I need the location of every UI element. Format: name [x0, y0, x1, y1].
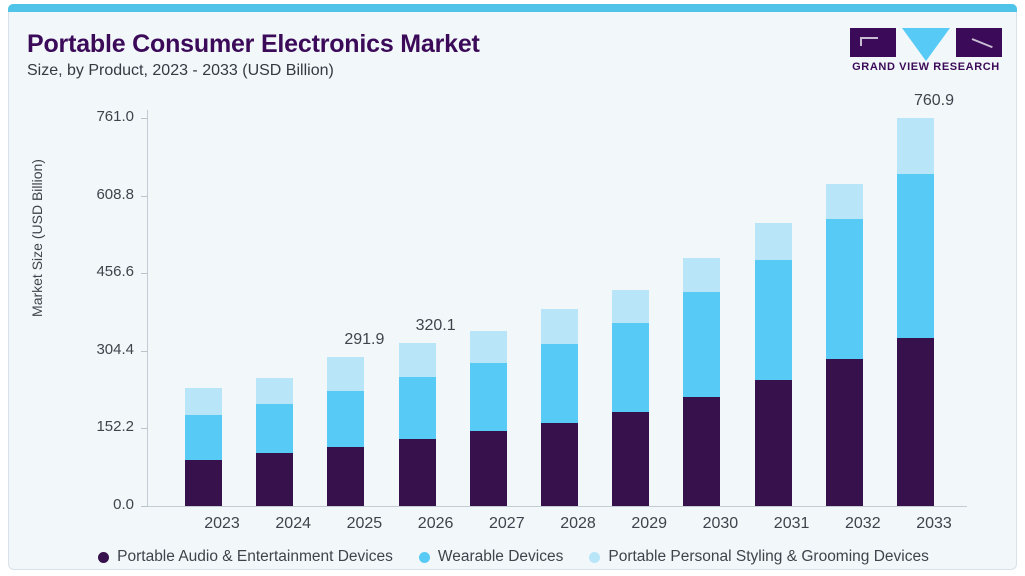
legend-color-swatch-icon: [98, 552, 109, 563]
legend-color-swatch-icon: [419, 552, 430, 563]
bar-segment[interactable]: [541, 309, 578, 344]
y-axis-tick-mark: [141, 351, 148, 352]
bar-segment[interactable]: [683, 397, 720, 506]
bar-segment[interactable]: [897, 174, 934, 338]
y-axis-tick-mark: [141, 506, 148, 507]
chart-legend: Portable Audio & Entertainment DevicesWe…: [9, 544, 1017, 570]
bar-segment[interactable]: [327, 447, 364, 506]
bar-segment[interactable]: [327, 391, 364, 448]
bar-segment[interactable]: [826, 184, 863, 219]
bar-segment[interactable]: [826, 219, 863, 359]
bar-segment[interactable]: [612, 290, 649, 323]
bar-segment[interactable]: [399, 377, 436, 439]
bar-segment[interactable]: [683, 292, 720, 397]
x-axis-tick-label: 2033: [889, 515, 979, 533]
y-axis-tick-label: 0.0: [64, 496, 134, 513]
y-axis-tick-label: 456.6: [64, 263, 134, 280]
y-axis-tick-label: 152.2: [64, 418, 134, 435]
y-axis-tick-mark: [141, 118, 148, 119]
legend-item-label: Wearable Devices: [438, 548, 564, 566]
bar-segment[interactable]: [327, 357, 364, 391]
bar-segment[interactable]: [541, 423, 578, 506]
bar-chart-plot: Market Size (USD Billion) 0.0152.2304.44…: [9, 12, 1017, 532]
bar-segment[interactable]: [470, 331, 507, 363]
legend-item[interactable]: Portable Personal Styling & Grooming Dev…: [589, 548, 928, 566]
y-axis-tick-label: 304.4: [64, 341, 134, 358]
bar-stack[interactable]: [612, 118, 649, 506]
bar-segment[interactable]: [256, 453, 293, 506]
bar-segment[interactable]: [541, 344, 578, 423]
bar-stack[interactable]: [541, 118, 578, 506]
bar-stack[interactable]: [683, 118, 720, 506]
legend-color-swatch-icon: [589, 552, 600, 563]
bar-stack[interactable]: [897, 118, 934, 506]
bar-stack[interactable]: [327, 118, 364, 506]
x-axis-line: [147, 506, 967, 507]
y-axis-tick-mark: [141, 196, 148, 197]
bar-segment[interactable]: [612, 323, 649, 412]
bar-segment[interactable]: [470, 363, 507, 431]
bar-segment[interactable]: [755, 260, 792, 380]
bar-stack[interactable]: [755, 118, 792, 506]
bar-stack[interactable]: [399, 118, 436, 506]
legend-item[interactable]: Portable Audio & Entertainment Devices: [98, 548, 393, 566]
y-axis-title: Market Size (USD Billion): [29, 88, 45, 388]
bar-stack[interactable]: [470, 118, 507, 506]
bar-stack[interactable]: [826, 118, 863, 506]
y-axis-line: [147, 110, 148, 506]
chart-card: Portable Consumer Electronics Market Siz…: [8, 12, 1017, 570]
bar-value-label: 320.1: [391, 317, 481, 335]
bar-segment[interactable]: [185, 415, 222, 459]
bar-segment[interactable]: [256, 378, 293, 404]
y-axis-tick-mark: [141, 273, 148, 274]
bar-stack[interactable]: [185, 118, 222, 506]
bar-segment[interactable]: [185, 388, 222, 415]
bar-segment[interactable]: [256, 404, 293, 453]
legend-item-label: Portable Personal Styling & Grooming Dev…: [608, 548, 928, 566]
y-axis-tick-label: 608.8: [64, 186, 134, 203]
y-axis-tick-mark: [141, 428, 148, 429]
bar-segment[interactable]: [470, 431, 507, 506]
y-axis-tick-label: 761.0: [64, 108, 134, 125]
legend-item[interactable]: Wearable Devices: [419, 548, 564, 566]
bar-segment[interactable]: [683, 258, 720, 292]
bar-segment[interactable]: [755, 223, 792, 260]
legend-item-label: Portable Audio & Entertainment Devices: [117, 548, 393, 566]
bar-segment[interactable]: [755, 380, 792, 506]
bar-value-label: 760.9: [889, 92, 979, 110]
chart-card-frame: Portable Consumer Electronics Market Siz…: [0, 0, 1025, 576]
bar-segment[interactable]: [612, 412, 649, 506]
bar-segment[interactable]: [185, 460, 222, 506]
bar-segment[interactable]: [897, 118, 934, 174]
bar-segment[interactable]: [399, 439, 436, 506]
bar-segment[interactable]: [897, 338, 934, 506]
bar-stack[interactable]: [256, 118, 293, 506]
bar-segment[interactable]: [826, 359, 863, 506]
